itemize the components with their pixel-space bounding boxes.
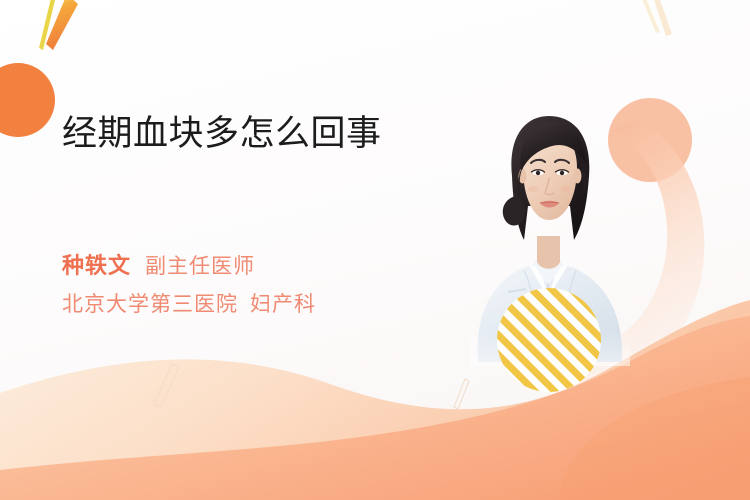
doctor-hospital: 北京大学第三医院 bbox=[62, 293, 238, 316]
headline-block: 经期血块多怎么回事 bbox=[62, 112, 412, 155]
doctor-name: 种轶文 bbox=[62, 253, 131, 278]
doctor-title: 副主任医师 bbox=[145, 255, 255, 278]
doctor-department: 妇产科 bbox=[250, 293, 316, 316]
striped-circle-decoration bbox=[497, 288, 601, 392]
doctor-topic-card: 经期血块多怎么回事 种轶文副主任医师 北京大学第三医院妇产科 bbox=[0, 0, 750, 500]
page-title: 经期血块多怎么回事 bbox=[62, 112, 402, 155]
doctor-affiliation-row: 北京大学第三医院妇产科 bbox=[62, 288, 316, 318]
doctor-name-row: 种轶文副主任医师 bbox=[62, 248, 255, 280]
